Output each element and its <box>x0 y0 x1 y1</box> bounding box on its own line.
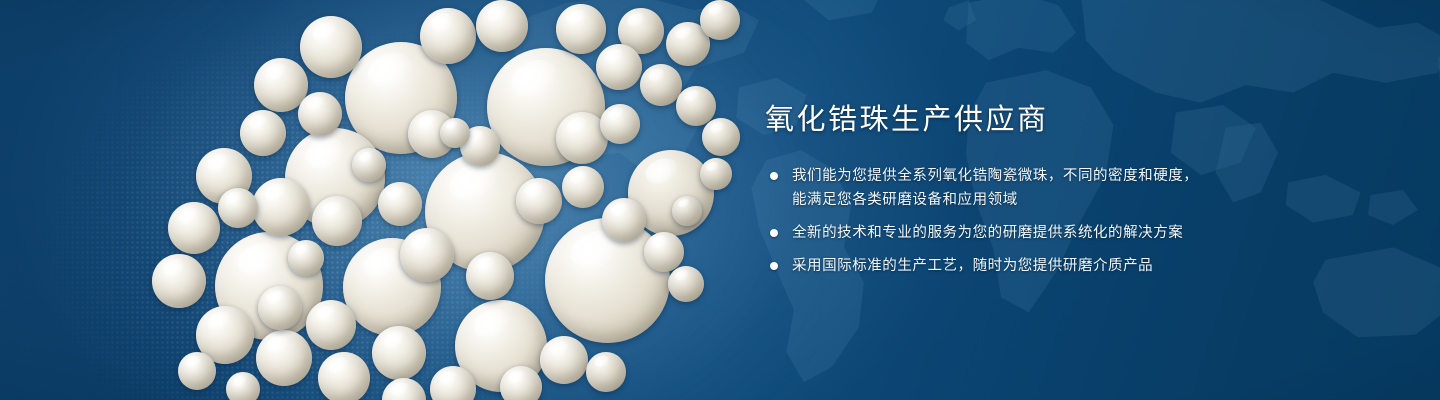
list-item: 我们能为您提供全系列氧化锆陶瓷微珠，不同的密度和硬度， 能满足您各类研磨设备和应… <box>765 164 1405 212</box>
feature-list: 我们能为您提供全系列氧化锆陶瓷微珠，不同的密度和硬度， 能满足您各类研磨设备和应… <box>765 164 1405 278</box>
bullet-line-1: 全新的技术和专业的服务为您的研磨提供系统化的解决方案 <box>792 225 1183 241</box>
list-item: 全新的技术和专业的服务为您的研磨提供系统化的解决方案 <box>765 221 1405 245</box>
banner-headline: 氧化锆珠生产供应商 <box>765 100 1405 140</box>
bullet-line-1: 采用国际标准的生产工艺，随时为您提供研磨介质产品 <box>792 258 1153 274</box>
list-item: 采用国际标准的生产工艺，随时为您提供研磨介质产品 <box>765 254 1405 278</box>
bullet-line-2: 能满足您各类研磨设备和应用领域 <box>792 188 1405 212</box>
banner-copy: 氧化锆珠生产供应商 我们能为您提供全系列氧化锆陶瓷微珠，不同的密度和硬度， 能满… <box>765 100 1405 278</box>
bullet-dot-icon <box>770 229 778 237</box>
hero-banner: 氧化锆珠生产供应商 我们能为您提供全系列氧化锆陶瓷微珠，不同的密度和硬度， 能满… <box>0 0 1440 400</box>
bullet-dot-icon <box>770 262 778 270</box>
bullet-dot-icon <box>770 172 778 180</box>
bullet-line-1: 我们能为您提供全系列氧化锆陶瓷微珠，不同的密度和硬度， <box>792 168 1198 184</box>
